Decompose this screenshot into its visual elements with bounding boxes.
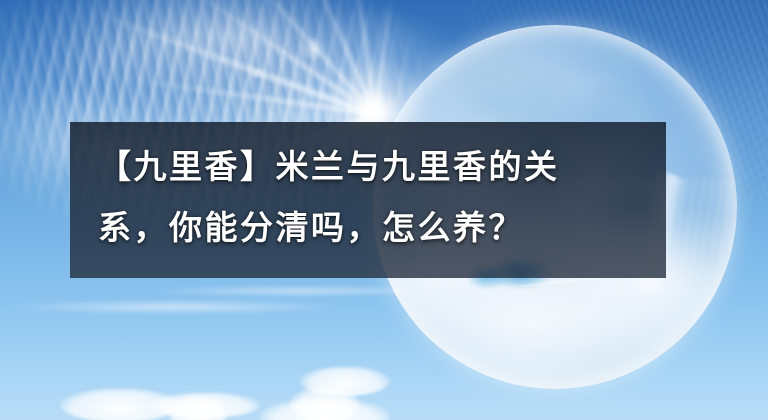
cloud-wisp	[10, 300, 340, 314]
cover-image-canvas: 【九里香】米兰与九里香的关 系，你能分清吗，怎么养？	[0, 0, 768, 420]
cloud-cumulus	[300, 366, 390, 396]
cloud-wisp	[150, 286, 450, 296]
lens-flare-dot-small	[250, 66, 264, 80]
title-line-1: 【九里香】米兰与九里香的关	[98, 138, 666, 199]
title-line-2: 系，你能分清吗，怎么养？	[98, 199, 666, 260]
title-overlay-banner: 【九里香】米兰与九里香的关 系，你能分清吗，怎么养？	[70, 122, 666, 278]
lens-flare-dot	[300, 36, 326, 62]
